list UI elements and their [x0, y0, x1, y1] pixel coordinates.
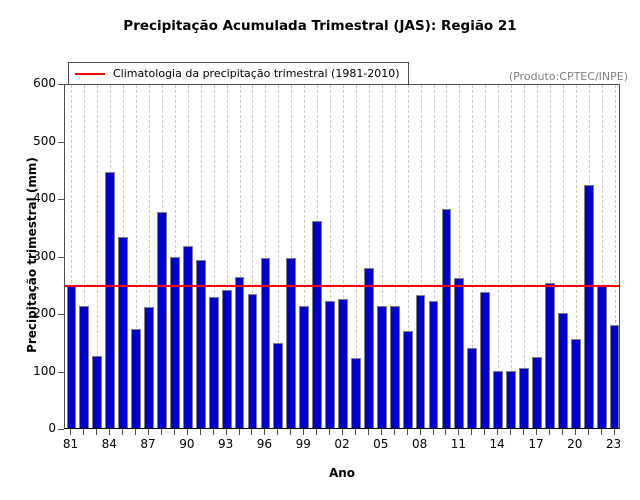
bar — [170, 257, 180, 428]
bar — [390, 306, 400, 428]
x-axis-tick — [96, 429, 97, 435]
bar — [235, 277, 245, 428]
bar — [377, 306, 387, 428]
bar — [532, 357, 542, 428]
x-axis-tick-label: 17 — [516, 437, 556, 451]
x-axis-tick — [368, 429, 369, 435]
bar — [545, 283, 555, 428]
x-axis-tick — [239, 429, 240, 435]
bar — [506, 371, 516, 429]
x-axis-tick — [614, 429, 615, 435]
bar — [467, 348, 477, 429]
bar — [105, 172, 115, 428]
x-axis-tick-label: 23 — [594, 437, 634, 451]
chart-figure: Precipitação Acumulada Trimestral (JAS):… — [0, 0, 640, 500]
bar — [157, 212, 167, 428]
x-axis-tick — [251, 429, 252, 435]
x-axis-tick — [174, 429, 175, 435]
y-axis-tick — [58, 429, 64, 430]
x-axis-tick-label: 08 — [400, 437, 440, 451]
x-axis-tick — [381, 429, 382, 435]
y-axis-label: Precipitação trimestral (mm) — [25, 75, 39, 435]
x-axis-tick — [303, 429, 304, 435]
bar — [299, 306, 309, 428]
x-axis-tick — [342, 429, 343, 435]
bar — [454, 278, 464, 428]
x-axis-tick — [277, 429, 278, 435]
bar — [209, 297, 219, 428]
x-axis-tick-label: 14 — [477, 437, 517, 451]
x-axis-tick — [122, 429, 123, 435]
bar — [312, 221, 322, 428]
x-axis-tick — [497, 429, 498, 435]
source-annotation: (Produto:CPTEC/INPE) — [509, 70, 628, 83]
x-axis-tick — [329, 429, 330, 435]
legend-label: Climatologia da precipitação trimestral … — [113, 67, 400, 80]
x-axis-tick-label: 93 — [206, 437, 246, 451]
x-axis-tick-label: 02 — [322, 437, 362, 451]
x-axis-tick — [187, 429, 188, 435]
x-axis-tick — [161, 429, 162, 435]
bar — [118, 237, 128, 428]
x-axis-tick — [135, 429, 136, 435]
bar — [429, 301, 439, 428]
bar — [144, 307, 154, 428]
x-axis-tick-label: 11 — [438, 437, 478, 451]
x-axis-label: Ano — [64, 466, 620, 480]
climatology-reference-line — [65, 285, 619, 287]
chart-title: Precipitação Acumulada Trimestral (JAS):… — [0, 18, 640, 34]
x-axis-tick-label: 90 — [167, 437, 207, 451]
x-axis-tick — [471, 429, 472, 435]
bar — [351, 358, 361, 428]
x-axis-tick — [523, 429, 524, 435]
x-axis-tick — [200, 429, 201, 435]
bar — [571, 339, 581, 428]
x-axis-tick — [601, 429, 602, 435]
bar — [519, 368, 529, 428]
x-axis-tick — [562, 429, 563, 435]
x-axis-tick — [70, 429, 71, 435]
plot-area — [64, 84, 620, 429]
bar — [338, 299, 348, 428]
x-axis-tick — [575, 429, 576, 435]
bar — [442, 209, 452, 428]
bar — [493, 371, 503, 429]
x-axis-tick-label: 20 — [555, 437, 595, 451]
bar — [610, 325, 620, 429]
bar — [403, 331, 413, 428]
x-axis-tick — [264, 429, 265, 435]
x-axis-tick — [510, 429, 511, 435]
x-axis-tick — [588, 429, 589, 435]
x-axis-tick — [394, 429, 395, 435]
bar — [286, 258, 296, 428]
x-axis-tick — [458, 429, 459, 435]
bar — [67, 285, 77, 428]
x-axis-tick — [445, 429, 446, 435]
x-axis-tick — [484, 429, 485, 435]
bar — [273, 343, 283, 428]
bar — [597, 286, 607, 428]
bar — [364, 268, 374, 428]
legend-line-swatch — [75, 73, 105, 75]
x-axis-tick — [213, 429, 214, 435]
bar — [248, 294, 258, 428]
bar — [131, 329, 141, 428]
bar — [480, 292, 490, 428]
legend: Climatologia da precipitação trimestral … — [68, 62, 409, 85]
x-axis-tick-label: 87 — [128, 437, 168, 451]
x-axis-tick — [109, 429, 110, 435]
x-axis-tick — [148, 429, 149, 435]
x-axis-tick-label: 81 — [50, 437, 90, 451]
x-axis-tick — [407, 429, 408, 435]
x-axis-tick — [536, 429, 537, 435]
x-axis-tick — [433, 429, 434, 435]
x-axis-tick — [355, 429, 356, 435]
x-axis-tick-label: 05 — [361, 437, 401, 451]
bar — [183, 246, 193, 428]
x-axis-tick-label: 96 — [244, 437, 284, 451]
bar — [584, 185, 594, 428]
bar — [558, 313, 568, 428]
x-axis-tick — [83, 429, 84, 435]
bar — [222, 290, 232, 428]
bar — [416, 295, 426, 428]
x-axis-tick — [420, 429, 421, 435]
x-axis-tick — [549, 429, 550, 435]
bar — [325, 301, 335, 428]
x-axis-tick-label: 99 — [283, 437, 323, 451]
x-axis-tick-label: 84 — [89, 437, 129, 451]
x-axis-tick — [226, 429, 227, 435]
x-axis-tick — [316, 429, 317, 435]
bar — [79, 306, 89, 428]
bar — [92, 356, 102, 428]
x-axis-tick — [290, 429, 291, 435]
